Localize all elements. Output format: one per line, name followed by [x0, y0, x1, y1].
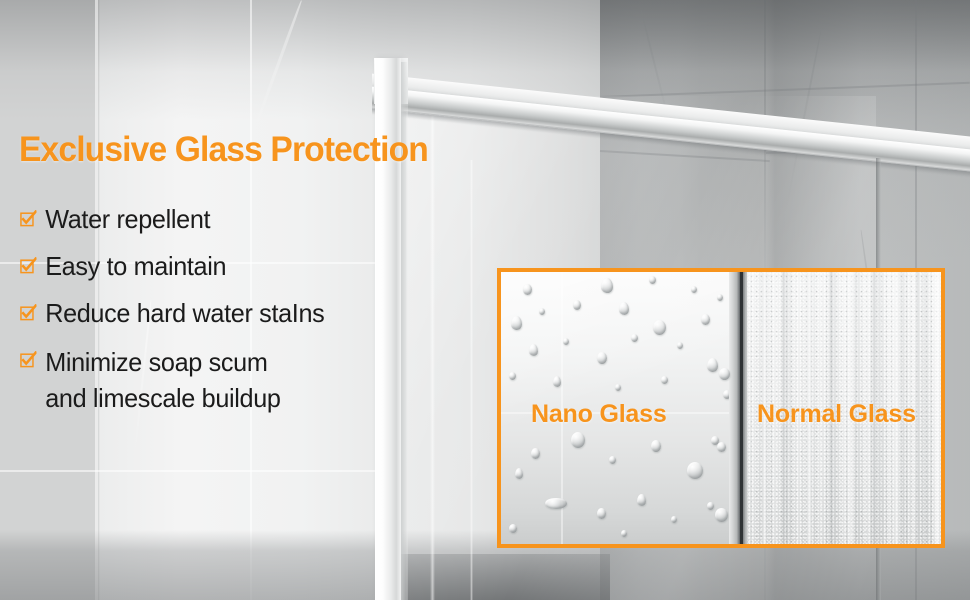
water-droplet: [609, 456, 616, 464]
product-feature-infographic: Exclusive Glass Protection Water repelle…: [0, 0, 970, 600]
water-droplet: [597, 508, 606, 519]
water-droplet: [637, 494, 646, 506]
water-droplet: [715, 508, 728, 522]
water-droplet: [677, 342, 683, 349]
water-droplet: [707, 502, 714, 510]
water-droplet: [621, 530, 627, 537]
normal-glass-label: Normal Glass: [757, 400, 916, 429]
water-droplet: [631, 334, 638, 342]
water-droplet: [545, 498, 567, 509]
list-item-label: Easy to maintain: [45, 251, 226, 281]
water-droplet: [653, 320, 666, 335]
water-droplet: [511, 316, 522, 330]
water-droplet: [661, 376, 668, 384]
glass-comparison-panel: Nano Glass Normal Glass: [497, 268, 945, 548]
water-droplet: [649, 276, 656, 284]
water-droplet: [651, 440, 661, 452]
water-droplet: [523, 284, 532, 295]
water-droplet: [515, 468, 523, 479]
water-droplet: [719, 368, 730, 380]
checkbox-checked-icon: [20, 304, 36, 321]
grout-line-horizontal: [0, 470, 400, 472]
water-droplet: [601, 278, 613, 293]
water-droplet: [717, 294, 723, 301]
water-droplet: [717, 442, 726, 452]
water-droplet: [619, 302, 629, 315]
glass-comparison-inner: Nano Glass Normal Glass: [501, 272, 941, 544]
glass-reflection-streak: [470, 160, 473, 600]
water-droplet: [707, 358, 718, 372]
checkbox-checked-icon: [20, 351, 36, 368]
list-item: Easy to maintain: [19, 250, 436, 283]
list-item: Water repellent: [19, 203, 436, 236]
list-item: Minimize soap scum and limescale buildup: [19, 344, 436, 416]
water-droplet: [701, 314, 710, 325]
list-item: Reduce hard water staIns: [19, 297, 436, 330]
feature-list: Water repellent Easy to maintain Reduce …: [19, 203, 449, 416]
water-droplet: [687, 462, 703, 479]
water-droplet: [531, 448, 540, 459]
water-droplet: [553, 376, 561, 387]
nano-glass-label: Nano Glass: [531, 400, 667, 429]
water-droplet: [671, 516, 677, 523]
water-droplet: [563, 338, 569, 345]
water-droplet: [509, 524, 517, 533]
water-droplet: [529, 344, 538, 356]
checkbox-checked-icon: [20, 257, 36, 274]
water-droplet: [509, 372, 516, 380]
water-droplet: [615, 384, 621, 391]
checkbox-checked-icon: [20, 210, 36, 227]
list-item-label: Reduce hard water staIns: [45, 298, 324, 328]
list-item-label: Water repellent: [45, 204, 210, 234]
list-item-label-line2: and limescale buildup: [45, 383, 280, 413]
water-droplet: [571, 432, 585, 448]
water-droplet: [539, 308, 545, 315]
water-droplet: [691, 286, 697, 293]
water-droplet: [597, 352, 607, 364]
water-droplet: [573, 300, 581, 310]
condensation-streak: [933, 272, 941, 544]
list-item-label: Minimize soap scum: [45, 347, 267, 377]
glass-divider-seam: [740, 272, 743, 544]
page-title: Exclusive Glass Protection: [19, 128, 428, 172]
